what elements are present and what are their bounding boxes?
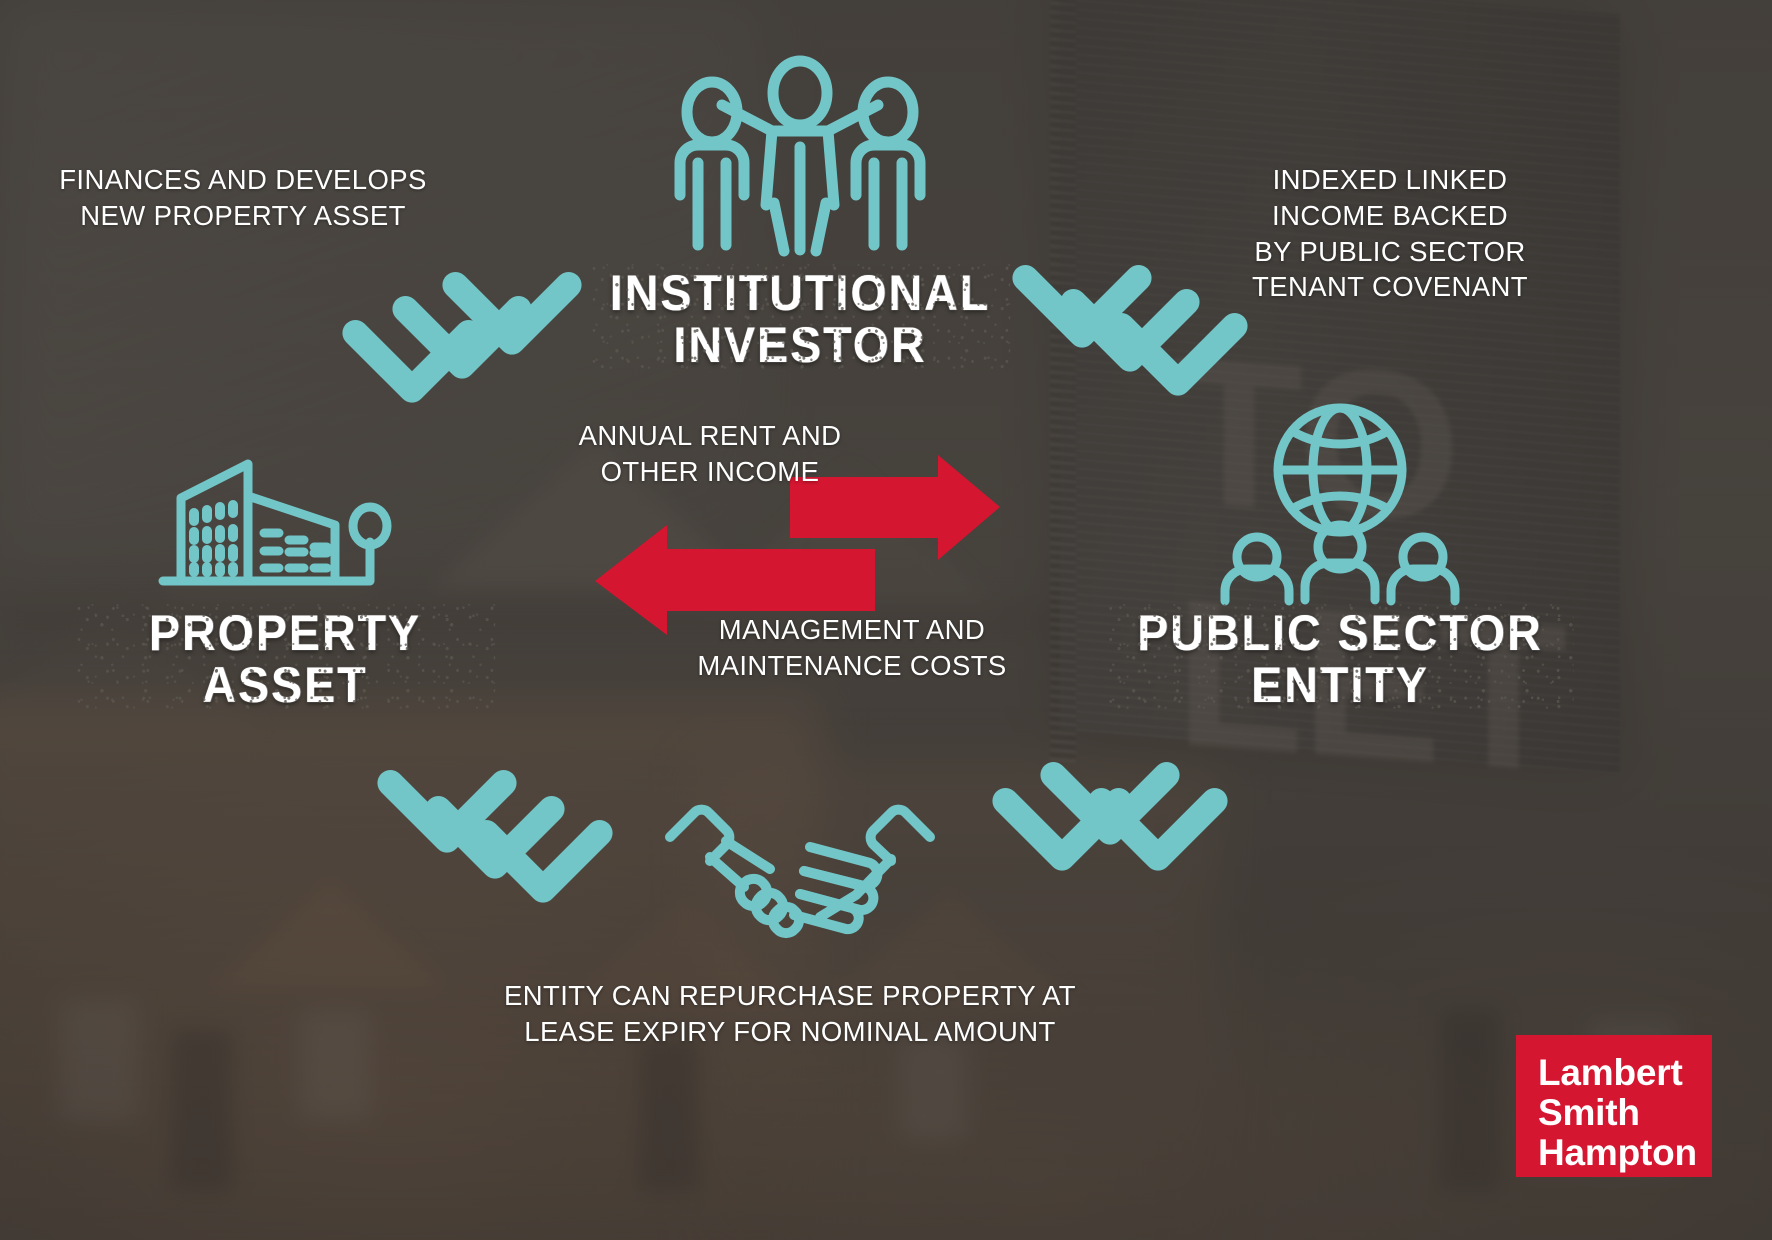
caption-indexed-linked: INDEXED LINKED INCOME BACKED BY PUBLIC S…: [1240, 162, 1540, 305]
chevron-group-top-right: [1020, 200, 1240, 405]
node-property-asset: PROPERTY ASSET: [155, 395, 415, 600]
chevron-group-bottom-left: [385, 715, 605, 915]
lambert-smith-hampton-logo[interactable]: Lambert Smith Hampton: [1516, 1035, 1712, 1177]
logo-line-3: Hampton: [1538, 1133, 1712, 1173]
caption-annual-rent: ANNUAL RENT AND OTHER INCOME: [545, 418, 875, 490]
three-people-icon: [640, 55, 960, 255]
handshake-icon: [660, 795, 940, 940]
node-public-sector-entity: PUBLIC SECTOR ENTITY: [1195, 395, 1485, 605]
infographic-canvas: TO LET INSTITUTIONAL IN: [0, 0, 1772, 1240]
globe-people-icon: [1195, 395, 1485, 605]
node-title-public-sector-entity: PUBLIC SECTOR ENTITY: [1112, 607, 1568, 711]
node-title-institutional-investor: INSTITUTIONAL INVESTOR: [595, 267, 1004, 371]
logo-line-1: Lambert: [1538, 1053, 1712, 1093]
caption-repurchase-terms: ENTITY CAN REPURCHASE PROPERTY AT LEASE …: [450, 978, 1130, 1050]
logo-line-2: Smith: [1538, 1093, 1712, 1133]
caption-finances-develops: FINANCES AND DEVELOPS NEW PROPERTY ASSET: [48, 162, 438, 234]
node-title-property-asset: PROPERTY ASSET: [80, 607, 489, 711]
chevron-group-bottom-right: [1030, 715, 1250, 915]
node-institutional-investor: INSTITUTIONAL INVESTOR: [640, 55, 960, 255]
caption-management-costs: MANAGEMENT AND MAINTENANCE COSTS: [692, 612, 1012, 684]
node-repurchase: [660, 795, 940, 940]
office-buildings-icon: [155, 395, 415, 600]
